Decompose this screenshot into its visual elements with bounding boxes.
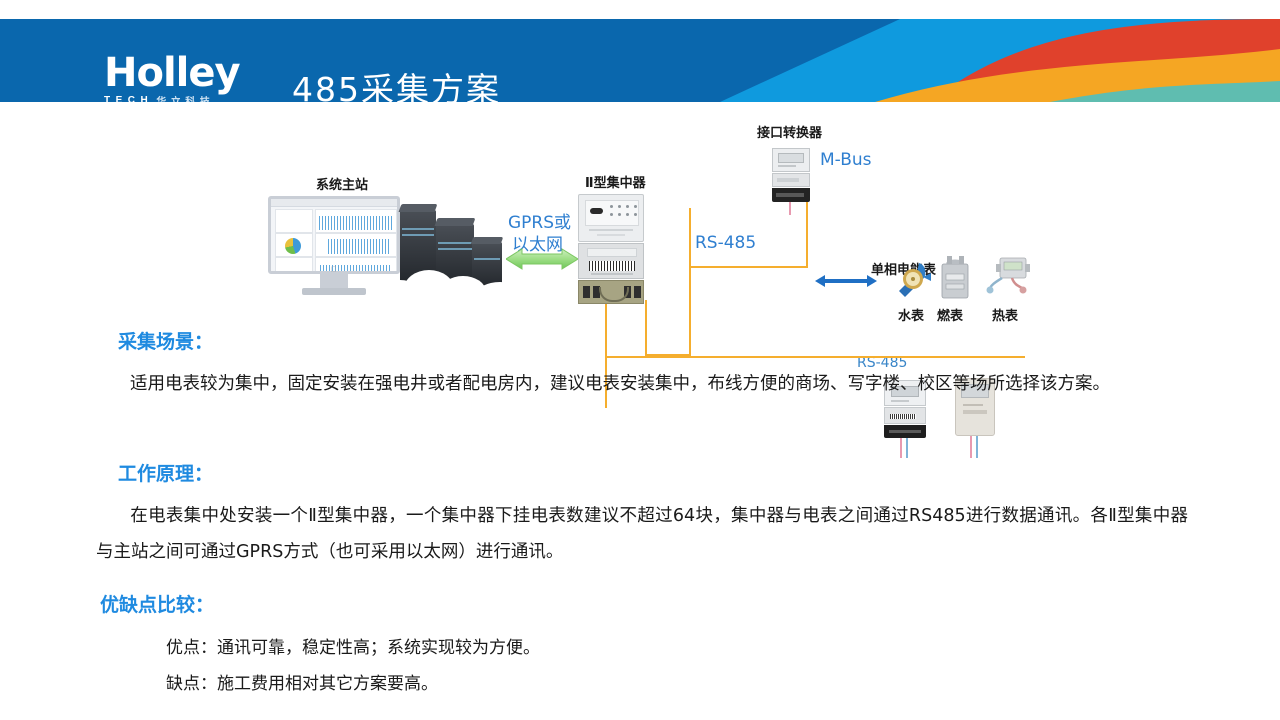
gprs-bidirectional-arrow-icon: [506, 248, 578, 270]
server-indicator-line: [402, 228, 434, 230]
cons-bullet: 缺点：施工费用相对其它方案要高。: [166, 669, 438, 694]
meter-wire-pink: [900, 438, 902, 458]
section-heading-working-principle: 工作原理：: [118, 459, 213, 486]
concentrator-terminal-block: [578, 280, 644, 304]
wire-riser-cap: [689, 208, 691, 210]
monitor-titlebar: [271, 199, 397, 207]
gas-meter-icon: [938, 254, 972, 302]
meter-wire-pink: [970, 436, 972, 458]
status-led-icon: [610, 213, 613, 216]
heat-meter-icon: [986, 254, 1030, 302]
status-led-icon: [618, 205, 621, 208]
meter-print-line: [963, 404, 983, 406]
terminal-cover-arc: [599, 287, 629, 302]
terminal-screw: [634, 286, 641, 298]
section-paragraph-collection-scenario: 适用电表较为集中，固定安装在强电井或者配电房内，建议电表安装集中，布线方便的商场…: [96, 366, 1186, 402]
converter-print-line: [777, 178, 799, 182]
status-led-icon: [626, 205, 629, 208]
meter-wire-blue: [906, 438, 908, 458]
server-indicator-line: [402, 234, 434, 236]
cloud-base: [378, 294, 528, 310]
label-master-station: 系统主站: [316, 174, 368, 193]
label-water-meter: 水表: [898, 305, 924, 324]
converter-print-line: [778, 165, 796, 167]
server-rack-top: [471, 237, 504, 244]
bar-chart-mini: [328, 239, 390, 254]
holley-logo: Holley TECH 华立科技: [104, 57, 264, 102]
meter-middle-panel: [884, 407, 926, 424]
label-mbus: M-Bus: [820, 150, 872, 170]
wire-bottom-bus: [605, 356, 1025, 358]
converter-middle-panel: [772, 173, 810, 187]
status-led-icon: [618, 213, 621, 216]
mbus-bidirectional-arrow-icon: [815, 274, 877, 288]
concentrator-print-line: [591, 273, 633, 275]
meter-wire-blue: [976, 436, 978, 458]
page-title: 485采集方案: [292, 63, 501, 102]
concentrator-print-line: [597, 234, 625, 236]
label-gas-meter: 燃表: [937, 305, 963, 324]
converter-top-panel: [772, 148, 810, 172]
concentrator-middle-panel: [578, 243, 644, 279]
apple-logo-icon: : [331, 265, 337, 274]
pros-bullet: 优点：通讯可靠，稳定性高；系统实现较为方便。: [166, 633, 540, 658]
status-led-icon: [634, 213, 637, 216]
status-led-icon: [626, 213, 629, 216]
meter-terminal-block: [884, 425, 926, 438]
interface-converter-device: [772, 148, 810, 202]
converter-terminal-block: [772, 188, 810, 202]
logo-tech-text: TECH: [104, 95, 153, 102]
wire-rs485-riser: [689, 210, 691, 268]
concentrator-window: [585, 200, 639, 226]
meter-print-block: [963, 410, 987, 414]
converter-lcd: [778, 153, 804, 163]
dashboard-card: [315, 233, 397, 257]
wire-riser-full: [689, 262, 691, 356]
water-meter-icon: [893, 257, 933, 301]
dashboard-card: [275, 233, 313, 257]
server-indicator-line: [438, 248, 472, 250]
header-banner: Holley TECH 华立科技 485采集方案: [0, 19, 1280, 102]
concentrator-barcode: [589, 261, 635, 271]
wire-converter-horizontal: [689, 266, 808, 268]
status-led-icon: [610, 205, 613, 208]
concentrator-lcd: [587, 248, 637, 257]
terminal-screw: [583, 286, 590, 298]
label-heat-meter: 热表: [992, 305, 1018, 324]
status-led-icon: [634, 205, 637, 208]
section-heading-collection-scenario: 采集场景：: [118, 327, 213, 354]
server-indicator-line: [474, 258, 500, 260]
wire-concentrator-terminal-right: [645, 300, 647, 356]
dashboard-card: [275, 209, 313, 233]
pie-chart-mini: [285, 238, 301, 254]
server-indicator-line: [438, 242, 472, 244]
meter-barcode: [890, 414, 916, 419]
concentrator-device: [578, 194, 644, 304]
concentrator-print-line: [589, 229, 633, 231]
logo-wordmark: Holley: [104, 57, 264, 89]
concentrator-upper-panel: [578, 194, 644, 242]
label-interface-converter: 接口转换器: [757, 122, 822, 141]
wire-converter-drop: [806, 202, 808, 268]
terminal-strip: [889, 430, 921, 433]
terminal-strip: [776, 193, 804, 197]
label-rs485-top: RS-485: [695, 233, 756, 253]
dashboard-card: [315, 209, 397, 233]
label-concentrator: Ⅱ型集中器: [585, 172, 646, 191]
concentrator-module: [590, 208, 603, 214]
banner-swoosh-decoration: [720, 19, 1280, 102]
bar-chart-mini: [319, 216, 393, 230]
section-paragraph-working-principle: 在电表集中处安装一个Ⅱ型集中器，一个集中器下挂电表数建议不超过64块，集中器与电…: [96, 498, 1188, 570]
converter-wire: [789, 202, 791, 215]
monitor-stand-neck: [320, 274, 348, 288]
server-rack-top: [435, 218, 476, 226]
monitor-stand-foot: [302, 288, 366, 295]
server-rack-top: [399, 204, 438, 212]
section-heading-pros-cons: 优缺点比较：: [100, 590, 214, 617]
dashboard-card: [275, 257, 313, 274]
